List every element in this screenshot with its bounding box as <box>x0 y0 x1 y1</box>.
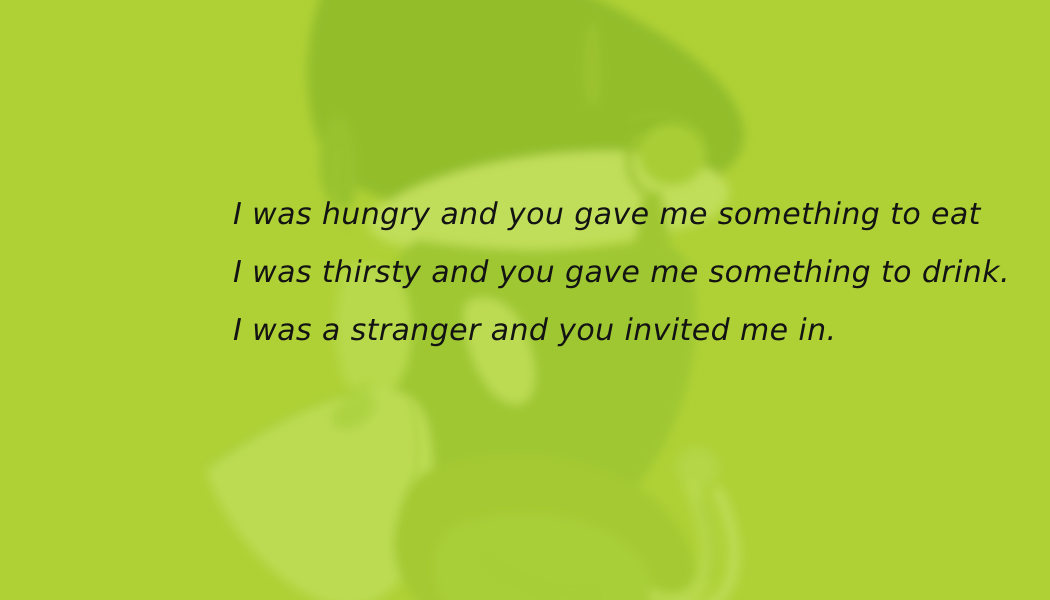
shape-contour-1 <box>630 115 706 142</box>
shape-cuff-edge <box>208 386 372 466</box>
quote-text-block: I was hungry and you gave me something t… <box>233 186 993 360</box>
shape-thumb-knob <box>677 448 719 488</box>
shape-thumb-oval <box>638 124 706 186</box>
shape-curve-separator <box>700 500 712 580</box>
quote-slide: I was hungry and you gave me something t… <box>0 0 1050 600</box>
shape-bottom-overlay <box>433 513 651 600</box>
quote-line-3: I was a stranger and you invited me in. <box>233 302 993 360</box>
quote-line-2: I was thirsty and you gave me something … <box>233 244 993 302</box>
shape-contour-3 <box>408 400 417 492</box>
shape-upper-fingers <box>307 0 744 210</box>
shape-lower-sleeve <box>394 454 696 600</box>
shape-finger-curve-2 <box>680 492 734 600</box>
shape-cuff-fold <box>331 393 376 430</box>
shape-notch <box>583 20 602 106</box>
shape-contour-4 <box>486 560 596 595</box>
quote-line-1: I was hungry and you gave me something t… <box>233 186 993 244</box>
shape-finger-curve-1 <box>646 486 708 600</box>
shape-cuff-left <box>208 390 434 600</box>
